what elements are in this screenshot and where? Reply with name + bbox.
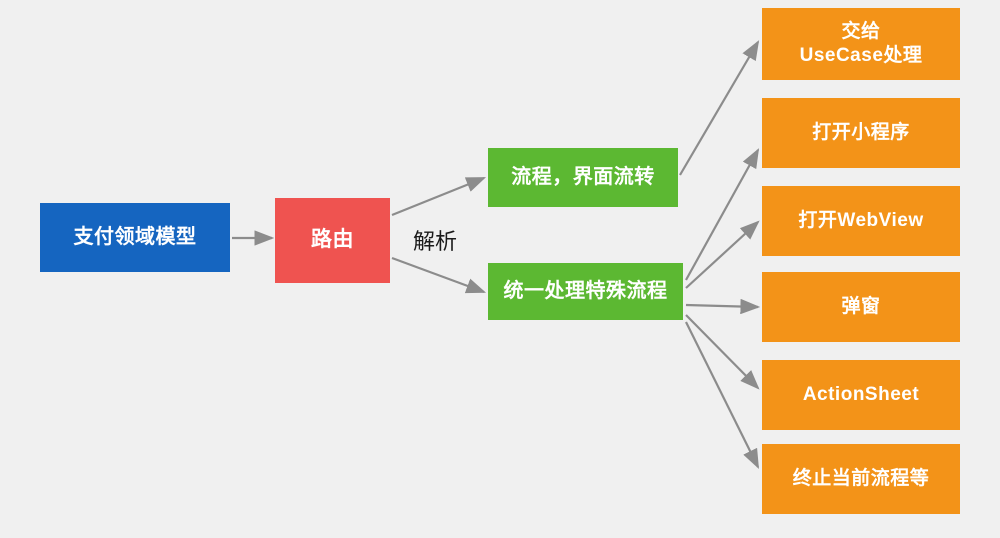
node-terminate-current-flow[interactable]: 终止当前流程等 <box>762 444 960 514</box>
node-label: 流程，界面流转 <box>511 165 655 190</box>
node-router[interactable]: 路由 <box>275 198 390 283</box>
node-label: 交给UseCase处理 <box>800 20 923 68</box>
edge-unified-to-popup <box>686 305 758 307</box>
node-payment-domain-model[interactable]: 支付领域模型 <box>40 203 230 272</box>
node-popup[interactable]: 弹窗 <box>762 272 960 342</box>
edge-unified-to-sheet <box>686 315 758 388</box>
edge-flow-to-usecase <box>680 42 758 175</box>
node-action-sheet[interactable]: ActionSheet <box>762 360 960 430</box>
node-flow-ui-transition[interactable]: 流程，界面流转 <box>488 148 678 207</box>
node-open-webview[interactable]: 打开WebView <box>762 186 960 256</box>
edge-unified-to-terminate <box>686 322 758 467</box>
edge-unified-to-webview <box>686 222 758 288</box>
node-label: 弹窗 <box>841 295 880 319</box>
node-label: 统一处理特殊流程 <box>504 279 668 304</box>
edge-router-to-flow <box>392 178 484 215</box>
node-label: 打开小程序 <box>812 121 910 145</box>
edge-label-parse-label: 解析 <box>413 224 457 256</box>
node-handover-usecase[interactable]: 交给UseCase处理 <box>762 8 960 80</box>
node-open-miniprogram[interactable]: 打开小程序 <box>762 98 960 168</box>
node-label: 支付领域模型 <box>74 225 197 250</box>
edge-router-to-unified <box>392 258 484 292</box>
node-label: 打开WebView <box>798 209 923 233</box>
node-label: 路由 <box>311 227 354 253</box>
node-unified-special-flow[interactable]: 统一处理特殊流程 <box>488 263 683 320</box>
edge-unified-to-mini <box>686 150 758 280</box>
diagram-canvas: 支付领域模型路由流程，界面流转统一处理特殊流程交给UseCase处理打开小程序打… <box>0 0 1000 538</box>
node-label: ActionSheet <box>803 383 919 407</box>
node-label: 终止当前流程等 <box>793 467 930 491</box>
